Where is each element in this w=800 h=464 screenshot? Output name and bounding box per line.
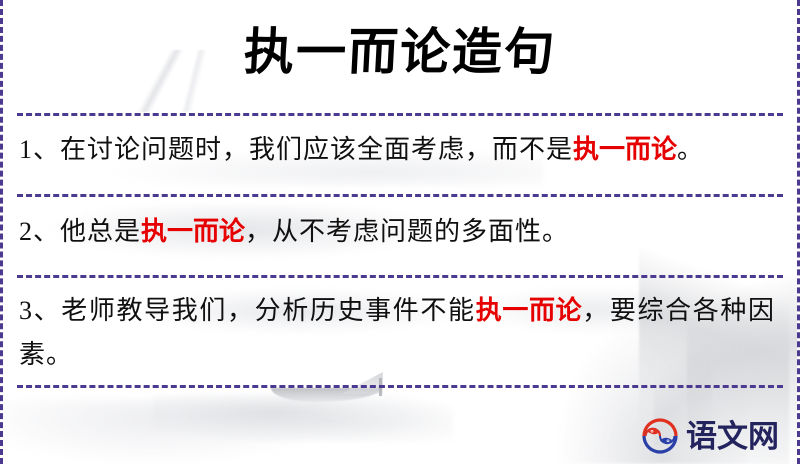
example-sentence-3: 3、老师教导我们，分析历史事件不能执一而论，要综合各种因素。 [19, 289, 775, 377]
sentence-text-after-2: ，从不考虑问题的多面性。 [245, 217, 569, 246]
idiom-highlight-2: 执一而论 [141, 217, 245, 246]
sentence-number-1: 1、 [19, 135, 60, 164]
sentence-text-after-1: 。 [677, 135, 704, 164]
divider-after-sentence-3 [17, 385, 783, 388]
sentence-number-2: 2、 [19, 217, 60, 246]
divider-after-sentence-2 [17, 275, 783, 278]
yinyang-fish-emblem-icon [640, 416, 680, 456]
page-title: 执一而论造句 [1, 22, 798, 83]
sentence-text-before-2: 他总是 [60, 217, 141, 246]
site-logo-text: 语文网 [686, 421, 779, 452]
site-logo[interactable]: 语文网 [640, 416, 779, 456]
sentence-number-3: 3、 [19, 296, 61, 325]
slide-page: 执一而论造句 1、在讨论问题时，我们应该全面考虑，而不是执一而论。 2、他总是执… [0, 0, 800, 464]
sentence-text-before-1: 在讨论问题时，我们应该全面考虑，而不是 [60, 135, 573, 164]
idiom-highlight-3: 执一而论 [476, 296, 583, 325]
example-sentence-2: 2、他总是执一而论，从不考虑问题的多面性。 [19, 210, 775, 254]
divider-top [17, 113, 783, 116]
divider-after-sentence-1 [17, 194, 783, 197]
sentence-text-before-3: 老师教导我们，分析历史事件不能 [61, 296, 475, 325]
example-sentence-1: 1、在讨论问题时，我们应该全面考虑，而不是执一而论。 [19, 128, 775, 172]
slide-content: 执一而论造句 1、在讨论问题时，我们应该全面考虑，而不是执一而论。 2、他总是执… [3, 0, 797, 464]
idiom-highlight-1: 执一而论 [573, 135, 677, 164]
